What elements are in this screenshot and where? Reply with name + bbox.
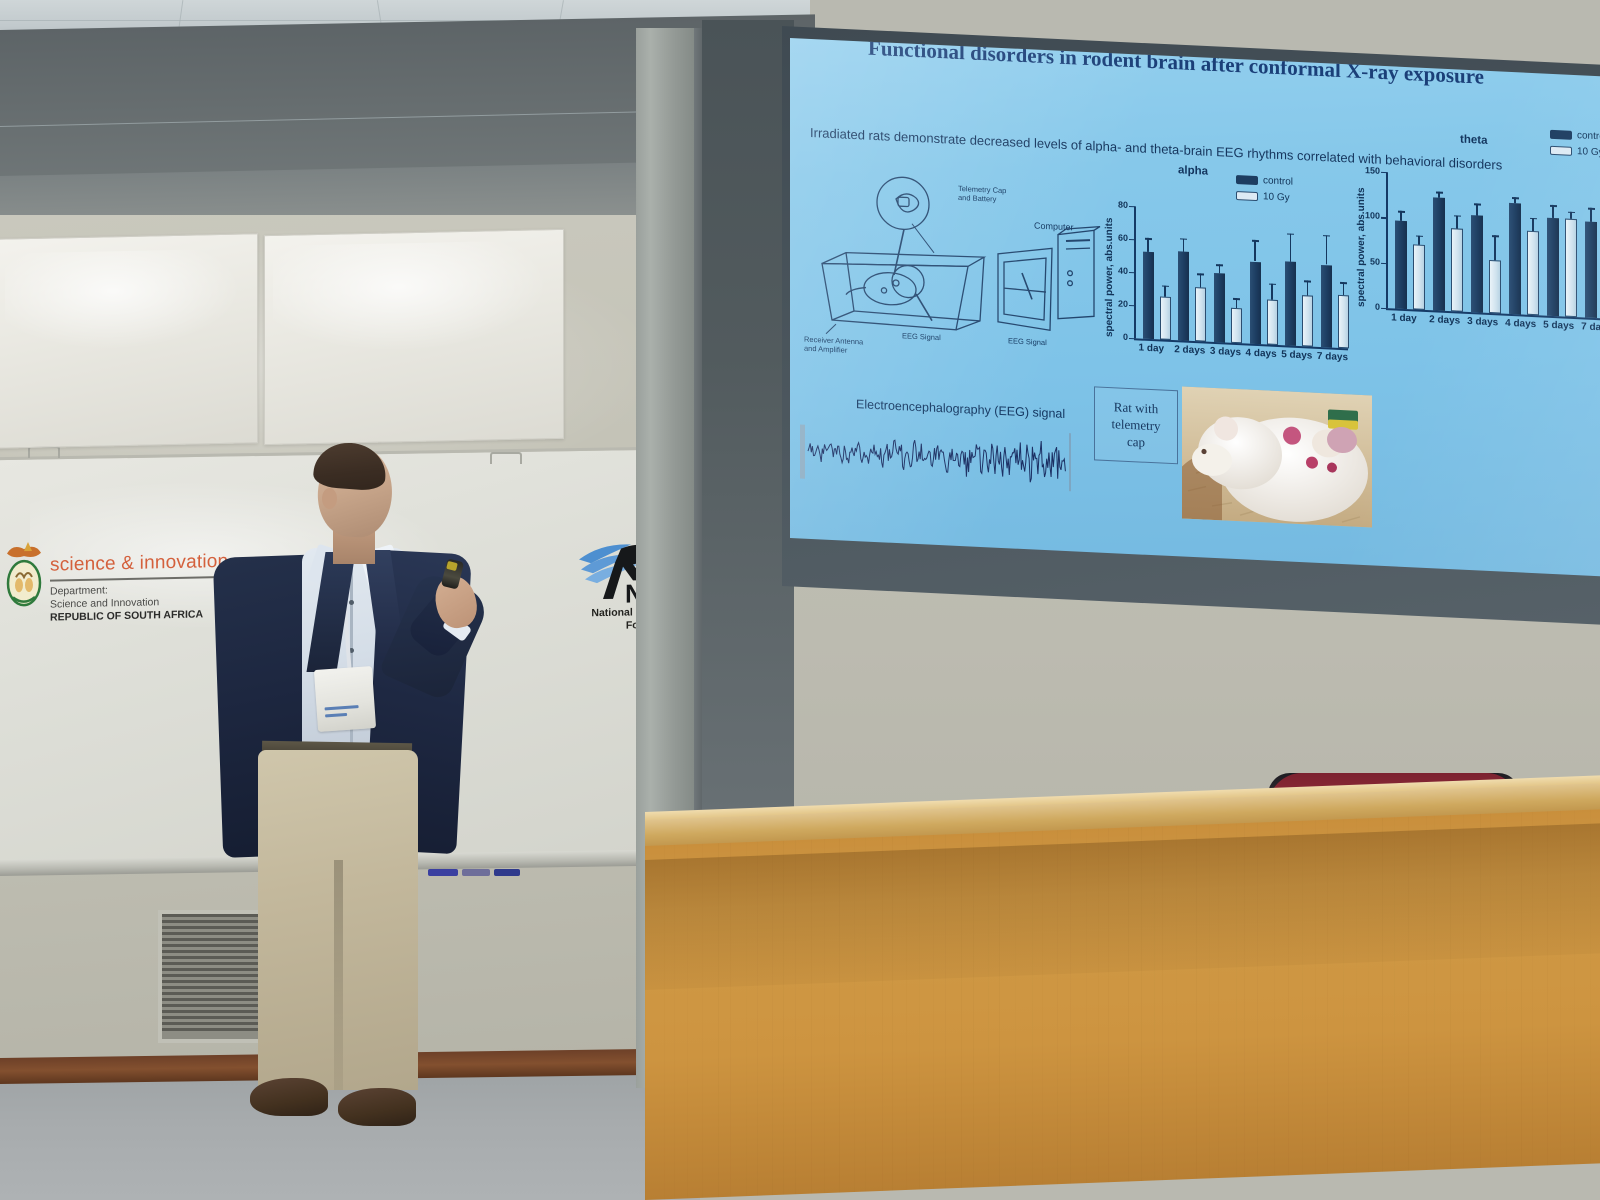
error-bar (1476, 204, 1478, 216)
error-bar (1183, 238, 1185, 251)
conference-badge (314, 666, 376, 732)
legend-swatch (1550, 130, 1572, 140)
whiteboard-clip (490, 452, 522, 464)
dst-poster-title: science & innovation (50, 551, 228, 577)
error-bar-cap (1492, 235, 1499, 237)
x-tick-label: 3 days (1467, 316, 1498, 328)
chart-bar (1302, 295, 1313, 347)
x-tick-label: 2 days (1174, 344, 1205, 356)
y-tick-label: 100 (1352, 210, 1380, 221)
error-bar-cap (1568, 211, 1575, 213)
y-tick (1381, 217, 1387, 219)
error-bar (1494, 235, 1496, 260)
x-tick-label: 4 days (1246, 347, 1277, 359)
error-bar (1290, 233, 1292, 261)
dst-poster-subtext: Department: Science and Innovation REPUB… (50, 582, 203, 624)
error-bar-cap (1180, 238, 1187, 240)
y-axis-label: spectral power, abs.units (1356, 187, 1367, 307)
error-bar-cap (1216, 265, 1223, 267)
error-bar-cap (1287, 233, 1294, 235)
x-tick-label: 1 day (1139, 342, 1165, 354)
alpha-chart: alphaspectral power, abs.units0204060801… (1086, 162, 1366, 385)
error-bar (1307, 280, 1309, 295)
error-bar (1254, 240, 1256, 262)
error-bar (1590, 208, 1592, 222)
x-tick-label: 2 days (1429, 314, 1460, 326)
y-tick-label: 50 (1352, 255, 1380, 266)
y-tick (1129, 272, 1135, 274)
error-bar-cap (1233, 298, 1240, 300)
y-tick (1381, 263, 1387, 265)
legend-swatch (1236, 175, 1258, 185)
dst-line-3: REPUBLIC OF SOUTH AFRICA (50, 608, 203, 623)
y-tick (1129, 305, 1135, 307)
badge-text-line (325, 713, 347, 718)
y-tick (1381, 308, 1387, 310)
y-tick-label: 150 (1352, 165, 1380, 176)
error-bar (1164, 285, 1166, 297)
chart-bar (1547, 218, 1559, 316)
diagram-label-eeg-signal-cage: EEG Signal (902, 331, 941, 342)
error-bar (1271, 284, 1273, 301)
x-tick-label: 7 days (1581, 321, 1600, 333)
chart-bar (1395, 221, 1407, 310)
chart-bar (1231, 308, 1242, 343)
south-african-coat-of-arms-icon (1, 539, 47, 612)
y-tick-label: 0 (1352, 301, 1380, 312)
chart-bar (1413, 244, 1425, 310)
chart-bar (1489, 260, 1501, 313)
chart-bar (1250, 261, 1261, 344)
chart-bar (1214, 273, 1225, 343)
trouser-leg-seam (334, 860, 343, 1090)
diagram-label-telemetry-cap: Telemetry Cap and Battery (958, 184, 1006, 204)
error-bar-cap (1197, 274, 1204, 276)
error-bar-cap (1512, 197, 1519, 199)
eeg-caption: Electroencephalography (EEG) signal (856, 397, 1065, 421)
y-tick-label: 40 (1100, 265, 1128, 276)
chart-bar (1285, 261, 1296, 346)
chart-bar (1433, 197, 1445, 311)
error-bar-cap (1269, 284, 1276, 286)
chart-bar (1527, 230, 1539, 315)
error-bar-cap (1454, 215, 1461, 217)
speaker-shoe (338, 1088, 416, 1126)
whiteboard-marker[interactable] (462, 869, 490, 876)
error-bar-cap (1550, 205, 1557, 207)
x-tick-label: 5 days (1281, 349, 1312, 361)
x-tick-label: 1 day (1391, 312, 1417, 324)
poster-glare (5, 249, 245, 354)
error-bar-cap (1588, 208, 1595, 210)
error-bar-cap (1416, 235, 1423, 237)
chart-title: theta (1460, 134, 1487, 147)
shirt-button (349, 600, 354, 605)
x-tick-label: 3 days (1210, 346, 1241, 358)
error-bar-cap (1398, 211, 1405, 213)
y-tick-label: 0 (1100, 331, 1128, 342)
diagram-label-receiver-antenna: Receiver Antenna and Amplifier (804, 335, 863, 356)
error-bar-cap (1474, 203, 1481, 205)
y-axis (1386, 172, 1388, 308)
error-bar (1532, 218, 1534, 231)
error-bar-cap (1323, 235, 1330, 237)
error-bar (1456, 215, 1458, 229)
legend-swatch (1236, 191, 1258, 201)
y-tick (1381, 172, 1387, 174)
error-bar-cap (1252, 240, 1259, 242)
error-bar (1552, 205, 1554, 218)
y-tick-label: 20 (1100, 298, 1128, 309)
chart-bar (1195, 287, 1206, 342)
badge-text-line (325, 705, 359, 710)
rat-caption-text: Rat with telemetry cap (1095, 397, 1177, 452)
y-tick (1129, 338, 1135, 340)
error-bar-cap (1304, 280, 1311, 282)
y-tick (1129, 206, 1135, 208)
error-bar-cap (1530, 218, 1537, 220)
chart-bar (1451, 229, 1463, 312)
y-tick-label: 60 (1100, 232, 1128, 243)
poster-glare (273, 240, 553, 356)
chart-bar (1321, 265, 1332, 348)
diagram-label-computer: Computer (1034, 222, 1074, 233)
diagram-label-eeg-signal-computer: EEG Signal (1008, 336, 1047, 347)
y-tick (1129, 239, 1135, 241)
error-bar (1326, 235, 1328, 265)
dst-poster: science & innovation Department: Science… (0, 233, 258, 449)
legend-swatch (1550, 146, 1572, 156)
eeg-signal-trace (798, 416, 1088, 500)
error-bar (1200, 274, 1202, 287)
y-tick-label: 80 (1100, 199, 1128, 210)
rat-caption-box: Rat with telemetry cap (1094, 386, 1178, 464)
chart-bar (1585, 221, 1597, 318)
speaker-ear (322, 488, 337, 509)
rat-photo (1182, 386, 1372, 527)
x-tick-label: 4 days (1505, 318, 1536, 330)
error-bar-cap (1162, 285, 1169, 287)
legend-label: 10 Gy (1577, 146, 1600, 158)
nrf-ithemba-poster: NRF National Research Foundation iThemba… (264, 229, 564, 445)
rat-caption-line-3: cap (1095, 431, 1177, 452)
chart-bar (1178, 251, 1189, 341)
error-bar-cap (1145, 238, 1152, 240)
lecture-hall-photo: science & innovation Department: Science… (0, 0, 1600, 1200)
chart-bar (1509, 203, 1521, 314)
legend-label: control (1263, 175, 1293, 187)
chart-bar (1267, 300, 1278, 345)
error-bar (1147, 238, 1149, 251)
projected-slide: Functional disorders in rodent brain aft… (790, 38, 1600, 577)
whiteboard-marker[interactable] (494, 869, 520, 876)
chart-title: alpha (1178, 164, 1208, 177)
dark-wall-column (702, 20, 794, 860)
x-tick-label: 5 days (1543, 320, 1574, 332)
legend-label: control (1577, 130, 1600, 142)
legend-label: 10 Gy (1263, 191, 1290, 203)
whiteboard-marker[interactable] (428, 869, 458, 876)
theta-chart: thetaspectral power, abs.units0501001501… (1338, 126, 1600, 354)
chart-bar (1565, 219, 1577, 317)
x-tick-label: 7 days (1317, 351, 1348, 363)
chart-bar (1160, 297, 1171, 340)
chart-bar (1143, 251, 1154, 339)
speaker-shoe (250, 1078, 328, 1116)
chart-bar (1471, 215, 1483, 313)
error-bar-cap (1436, 192, 1443, 194)
